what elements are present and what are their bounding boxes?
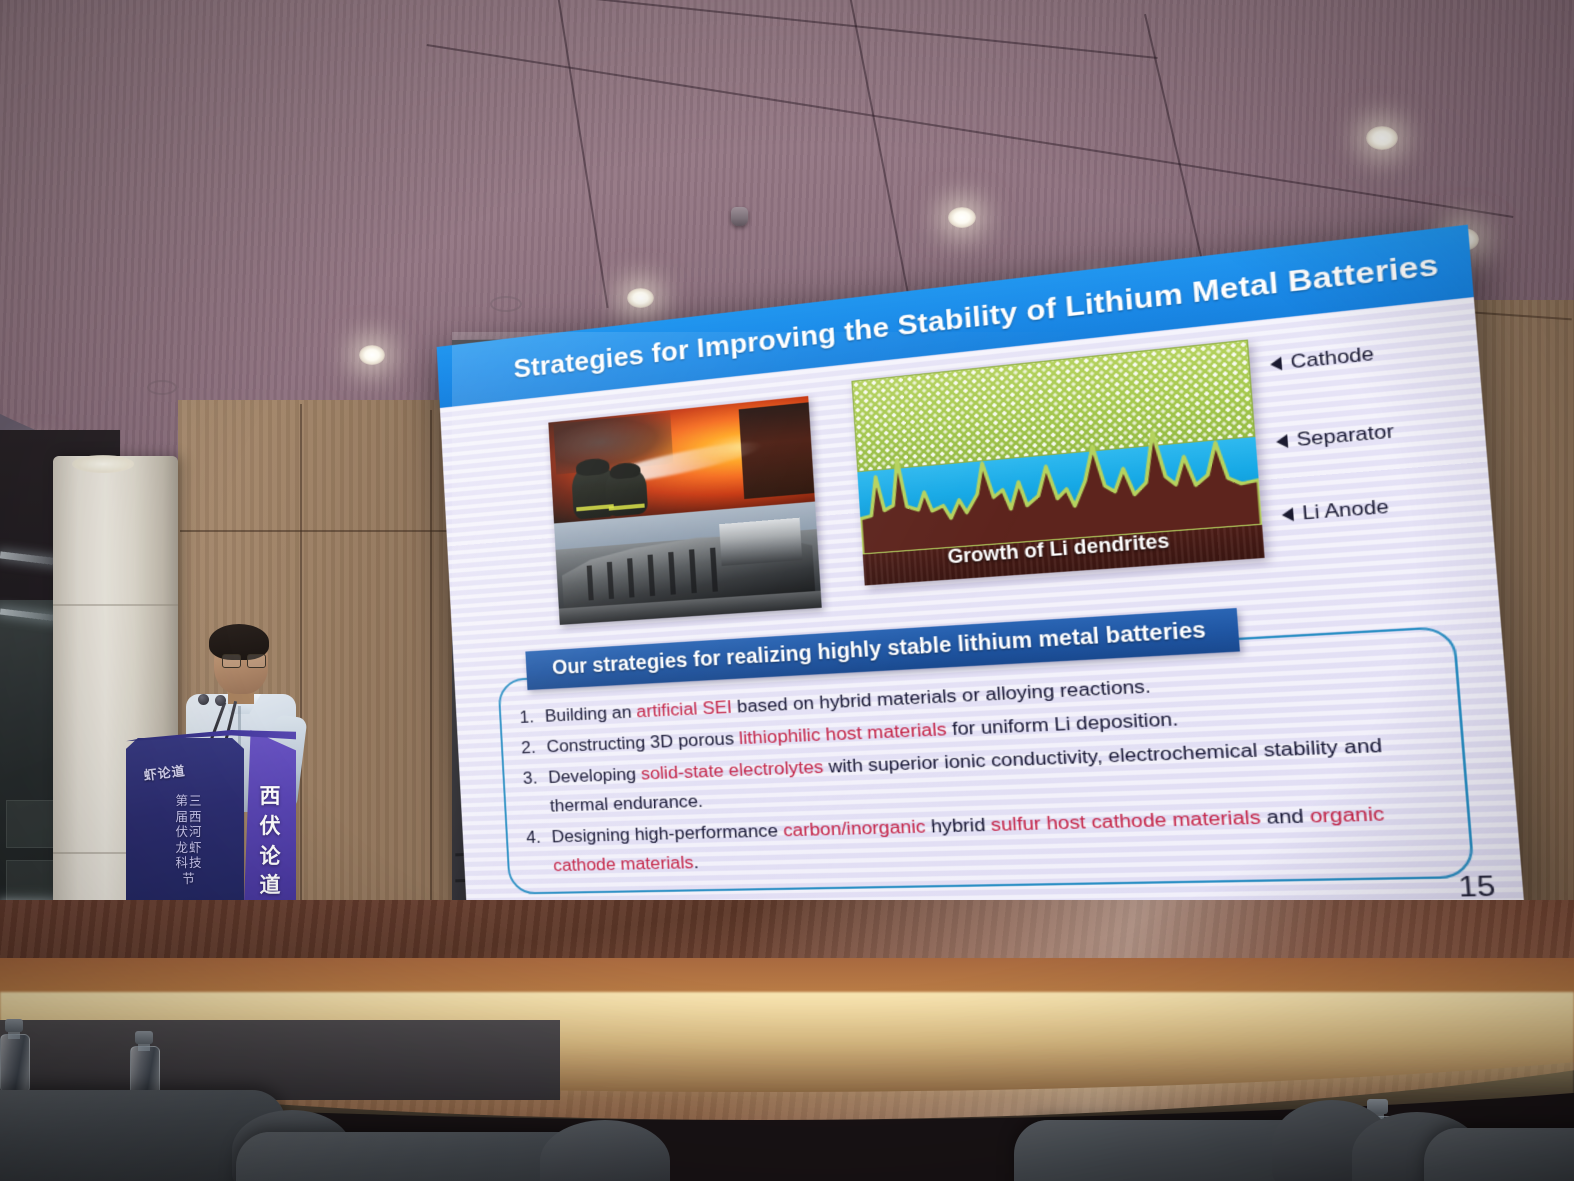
downlight-rim (490, 296, 522, 312)
front-ledge (0, 1020, 560, 1100)
ceiling-downlight (359, 345, 385, 365)
audience-chair (540, 1120, 670, 1181)
arrow-left-icon (1276, 434, 1289, 449)
label-separator: Separator (1275, 420, 1395, 453)
accident-photo-stack (548, 396, 821, 625)
strategy-number: 3. (520, 763, 540, 821)
wall-seam (430, 410, 432, 950)
smoke-detector-icon (731, 207, 748, 226)
strategy-number: 1. (516, 702, 534, 731)
conference-hall-photo: Strategies for Improving the Stability o… (0, 0, 1574, 1181)
burnt-truck-photo (554, 502, 822, 625)
label-cathode: Cathode (1269, 343, 1374, 376)
presentation-slide: Strategies for Improving the Stability o… (437, 225, 1525, 926)
podium-side-text: 西伏论道 (253, 782, 287, 901)
wall-seam (300, 404, 302, 964)
arrow-left-icon (1270, 357, 1283, 372)
column-top-light (72, 455, 134, 473)
label-li-anode: Li Anode (1281, 495, 1390, 526)
eyeglasses-icon (222, 654, 266, 666)
arrow-left-icon (1281, 507, 1294, 522)
label-text: Li Anode (1302, 495, 1390, 525)
ceiling-downlight (948, 207, 976, 228)
strategy-number: 4. (523, 822, 543, 880)
event-subtitle: 第三届西伏河龙虾科技节 (174, 794, 204, 887)
lithium-battery-diagram: Growth of Li dendrites (851, 339, 1264, 585)
label-text: Cathode (1290, 343, 1375, 374)
ceiling-downlight (1366, 126, 1398, 150)
label-text: Separator (1296, 420, 1395, 452)
column-seam (53, 604, 178, 606)
downlight-rim (147, 380, 177, 395)
audience-chair (1424, 1128, 1574, 1181)
ceiling-downlight (627, 288, 654, 308)
strategy-number: 2. (518, 732, 536, 761)
water-bottle (0, 1018, 28, 1094)
